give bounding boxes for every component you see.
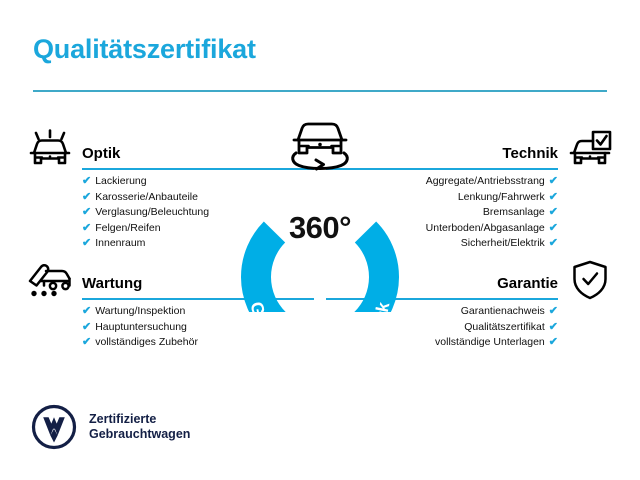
check-icon: ✔	[549, 321, 558, 333]
item-label: Hauptuntersuchung	[95, 321, 187, 333]
car-checkbox-icon	[564, 128, 616, 172]
check-icon: ✔	[82, 206, 91, 218]
car-shine-icon	[24, 128, 76, 172]
item-label: Lackierung	[95, 175, 146, 187]
check-icon: ✔	[549, 206, 558, 218]
section-title: Garantie	[497, 275, 558, 292]
shield-check-icon	[564, 258, 616, 302]
check-icon: ✔	[549, 305, 558, 317]
item-label: Qualitätszertifikat	[464, 321, 545, 333]
check-icon: ✔	[82, 336, 91, 348]
item-label: Wartung/Inspektion	[95, 305, 185, 317]
footer-text: Zertifizierte Gebrauchtwagen	[89, 412, 190, 443]
check-icon: ✔	[82, 321, 91, 333]
section-title: Optik	[82, 145, 120, 162]
footer-line-2: Gebrauchtwagen	[89, 427, 190, 443]
list-item: Qualitätszertifikat✔	[326, 320, 558, 336]
check-icon: ✔	[549, 222, 558, 234]
check-icon: ✔	[82, 222, 91, 234]
item-label: Felgen/Reifen	[95, 222, 160, 234]
list-item: vollständige Unterlagen✔	[326, 335, 558, 351]
item-label: vollständiges Zubehör	[95, 336, 198, 348]
check-icon: ✔	[549, 175, 558, 187]
check-icon: ✔	[82, 191, 91, 203]
check-icon: ✔	[549, 191, 558, 203]
section-title: Technik	[502, 145, 558, 162]
footer-brand: Zertifizierte Gebrauchtwagen	[31, 404, 190, 450]
badge-360-gebrauchtwagen-check: Gebrauchtwagen-Check 360°	[226, 112, 414, 312]
item-label: vollständige Unterlagen	[435, 336, 545, 348]
item-label: Garantienachweis	[461, 305, 545, 317]
vw-logo-icon	[31, 404, 77, 450]
page-title: Qualitätszertifikat	[33, 34, 256, 65]
badge-number: 360°	[226, 210, 414, 246]
title-divider	[33, 90, 607, 92]
check-icon: ✔	[549, 237, 558, 249]
check-icon: ✔	[82, 237, 91, 249]
item-label: Aggregate/Antriebsstrang	[426, 175, 545, 187]
check-icon: ✔	[549, 336, 558, 348]
list-item: ✔Hauptuntersuchung	[82, 320, 314, 336]
item-label: Bremsanlage	[483, 206, 545, 218]
footer-line-1: Zertifizierte	[89, 412, 190, 428]
wrench-car-icon	[24, 258, 76, 302]
item-label: Unterboden/Abgasanlage	[426, 222, 545, 234]
item-label: Karosserie/Anbauteile	[95, 191, 198, 203]
check-icon: ✔	[82, 305, 91, 317]
list-item: ✔vollständiges Zubehör	[82, 335, 314, 351]
section-title: Wartung	[82, 275, 142, 292]
item-label: Innenraum	[95, 237, 145, 249]
item-label: Verglasung/Beleuchtung	[95, 206, 209, 218]
item-label: Sicherheit/Elektrik	[461, 237, 545, 249]
item-label: Lenkung/Fahrwerk	[458, 191, 545, 203]
car-rotate-360-icon	[278, 114, 362, 176]
check-icon: ✔	[82, 175, 91, 187]
